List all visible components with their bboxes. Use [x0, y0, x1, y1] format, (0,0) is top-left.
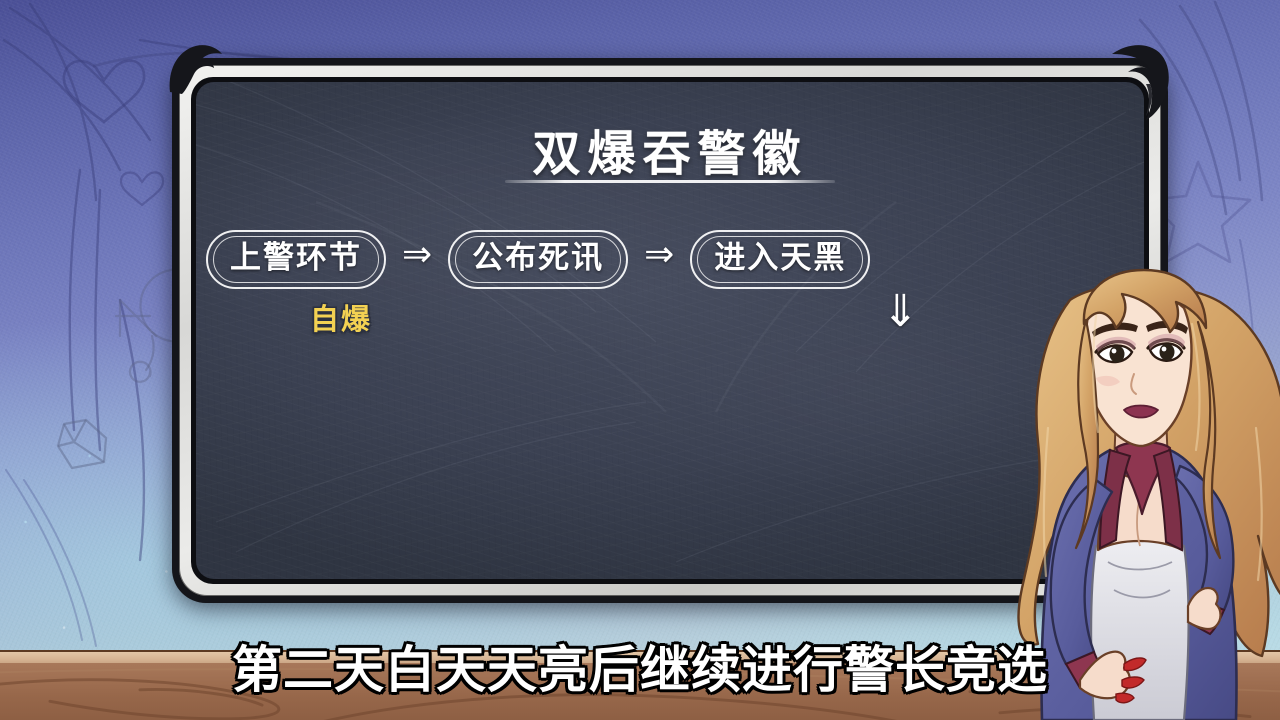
flow-node-2: 公布死讯 — [448, 230, 628, 289]
lesson-title: 双爆吞警徽 — [172, 114, 1168, 184]
flow-arrow-2-icon: ⇒ — [638, 237, 680, 281]
flow-node-3-label: 进入天黑 — [690, 230, 870, 289]
video-frame: 双爆吞警徽 上警环节 ⇒ 公布死讯 ⇒ 进入天黑 自爆 ⇓ — [0, 0, 1280, 720]
flow-node-3: 进入天黑 — [690, 230, 870, 289]
flow-node-1: 上警环节 — [206, 230, 386, 289]
flow-node-1-note: 自爆 — [310, 296, 372, 338]
title-underline — [505, 180, 835, 183]
small-heart-doodle — [121, 172, 163, 205]
flow-down-arrow-icon: ⇓ — [882, 290, 919, 334]
flow-node-2-label: 公布死讯 — [448, 230, 628, 289]
subtitle-text: 第二天白天天亮后继续进行警长竞选 — [0, 630, 1280, 702]
flow-node-1-label: 上警环节 — [206, 230, 386, 289]
flow-arrow-1-icon: ⇒ — [396, 237, 438, 281]
